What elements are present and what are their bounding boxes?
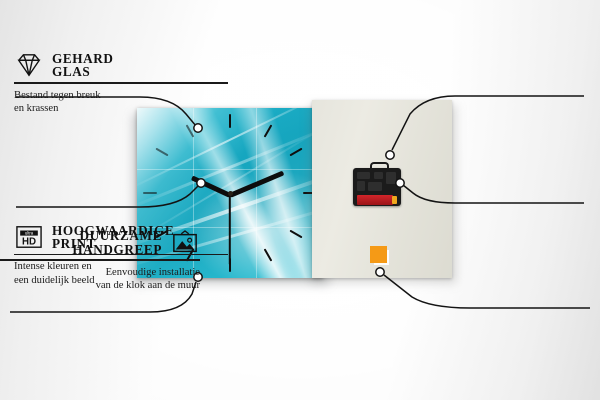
feature-title-line2: HANDGREEP (72, 243, 162, 256)
feature-heading: DUURZAME HANDGREEP (0, 229, 200, 256)
product-back-panel (312, 100, 452, 278)
mechanism-battery (357, 195, 393, 205)
mechanism-body (353, 168, 401, 206)
feature-title-line1: GEHARD (52, 52, 113, 65)
feature-divider (14, 82, 228, 84)
clock-second-hand (229, 195, 231, 265)
clock-tick-4 (290, 230, 303, 239)
foam-spacer-pad (370, 246, 387, 263)
back-panel-surface (312, 100, 452, 278)
glass-pane-line (256, 108, 257, 278)
clock-tick-12 (229, 114, 231, 128)
feature-titles: GEHARD GLAS (52, 52, 113, 79)
mechanism-detail (386, 172, 396, 184)
battery-positive-terminal-icon (392, 196, 397, 204)
glass-pane-line (137, 169, 323, 170)
clock-tick-2 (290, 148, 303, 157)
product-feature-infographic: GEHARD GLAS Bestand tegen breuk en krass… (0, 0, 600, 400)
feature-desc-line1: Bestand tegen breuk (14, 89, 228, 103)
clock-mechanism (353, 162, 401, 206)
clock-tick-10 (156, 148, 169, 157)
feature-desc-line2: van de klok aan de muur (0, 279, 200, 293)
feature-description: Bestand tegen breuk en krassen (14, 89, 228, 116)
picture-frame-icon (170, 230, 200, 256)
clock-tick-9 (143, 192, 157, 194)
feature-desc-line1: Eenvoudige installatie (0, 266, 200, 280)
feature-titles: DUURZAME HANDGREEP (72, 229, 162, 256)
feature-duurzame-handgreep: DUURZAME HANDGREEP Eenvoudige installati… (0, 229, 200, 293)
feature-divider (0, 259, 200, 261)
feature-title-line1: DUURZAME (72, 229, 162, 242)
mechanism-detail (357, 172, 370, 179)
diamond-icon (14, 52, 44, 78)
feature-desc-line2: en krassen (14, 102, 228, 116)
clock-tick-5 (264, 248, 273, 261)
feature-description: Eenvoudige installatie van de klok aan d… (0, 266, 200, 293)
feature-heading: GEHARD GLAS (14, 52, 228, 79)
mechanism-detail (368, 182, 382, 191)
feature-gehard-glas: GEHARD GLAS Bestand tegen breuk en krass… (14, 52, 228, 116)
feature-title-line2: GLAS (52, 65, 113, 78)
mechanism-detail (357, 181, 365, 191)
mechanism-detail (374, 172, 383, 179)
clock-center-hub (228, 191, 233, 196)
clock-tick-1 (264, 124, 273, 137)
